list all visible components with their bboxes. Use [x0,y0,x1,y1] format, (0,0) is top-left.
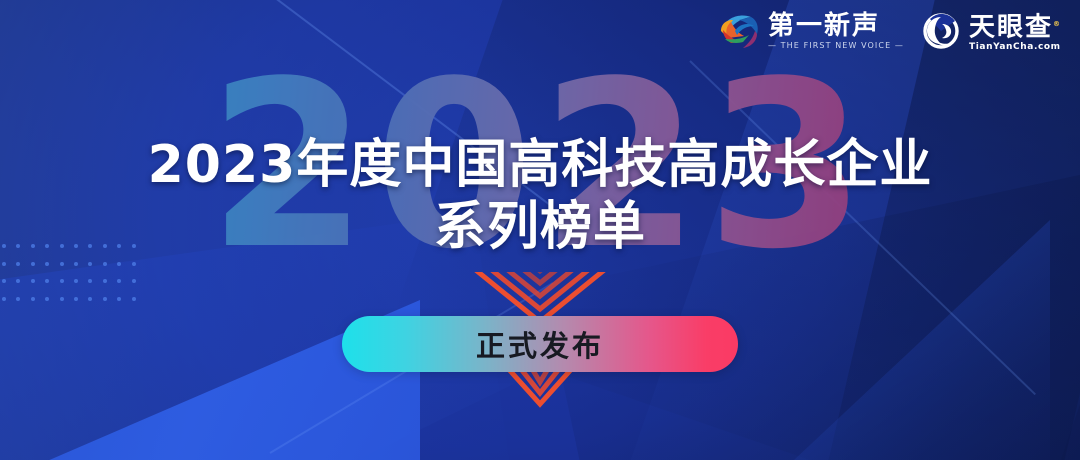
release-button[interactable]: 正式发布 [342,316,738,372]
tianyancha-logo-text: 天眼查® TianYanCha.com [969,10,1062,53]
tianyancha-name: 天眼查® [969,10,1062,42]
grid-dot [31,297,35,301]
grid-dot [2,297,6,301]
grid-dot [45,297,49,301]
headline-block: 2023年度中国高科技高成长企业 系列榜单 [0,134,1080,258]
logo-diyixinsheng[interactable]: 第一新声 — THE FIRST NEW VOICE — [717,11,904,51]
grid-dot [103,297,107,301]
diyixinsheng-name: 第一新声 [768,12,904,40]
logo-tianyancha[interactable]: 天眼查® TianYanCha.com [922,10,1062,53]
trademark-mark: ® [1053,20,1062,28]
headline-line-2: 系列榜单 [0,196,1080,258]
logo-bar: 第一新声 — THE FIRST NEW VOICE — 天眼查® TianYa… [717,10,1062,53]
grid-dot [88,297,92,301]
tianyancha-eye-logo-icon [922,12,962,50]
headline-line-1: 2023年度中国高科技高成长企业 [0,134,1080,196]
grid-dot [132,297,136,301]
grid-dot [60,297,64,301]
grid-dot [16,297,20,301]
release-button-label: 正式发布 [476,323,604,365]
diyixinsheng-swirl-logo-icon [717,11,761,51]
tianyancha-tagline: TianYanCha.com [969,42,1062,53]
diyixinsheng-logo-text: 第一新声 — THE FIRST NEW VOICE — [768,12,904,51]
tianyancha-name-label: 天眼查 [969,13,1053,43]
grid-dot [74,297,78,301]
promotional-banner: 2023 正式发布 2023年度中国高科技高成长企业 系列榜单 [0,0,1080,460]
diyixinsheng-tagline: — THE FIRST NEW VOICE — [768,40,904,51]
grid-dot [117,297,121,301]
